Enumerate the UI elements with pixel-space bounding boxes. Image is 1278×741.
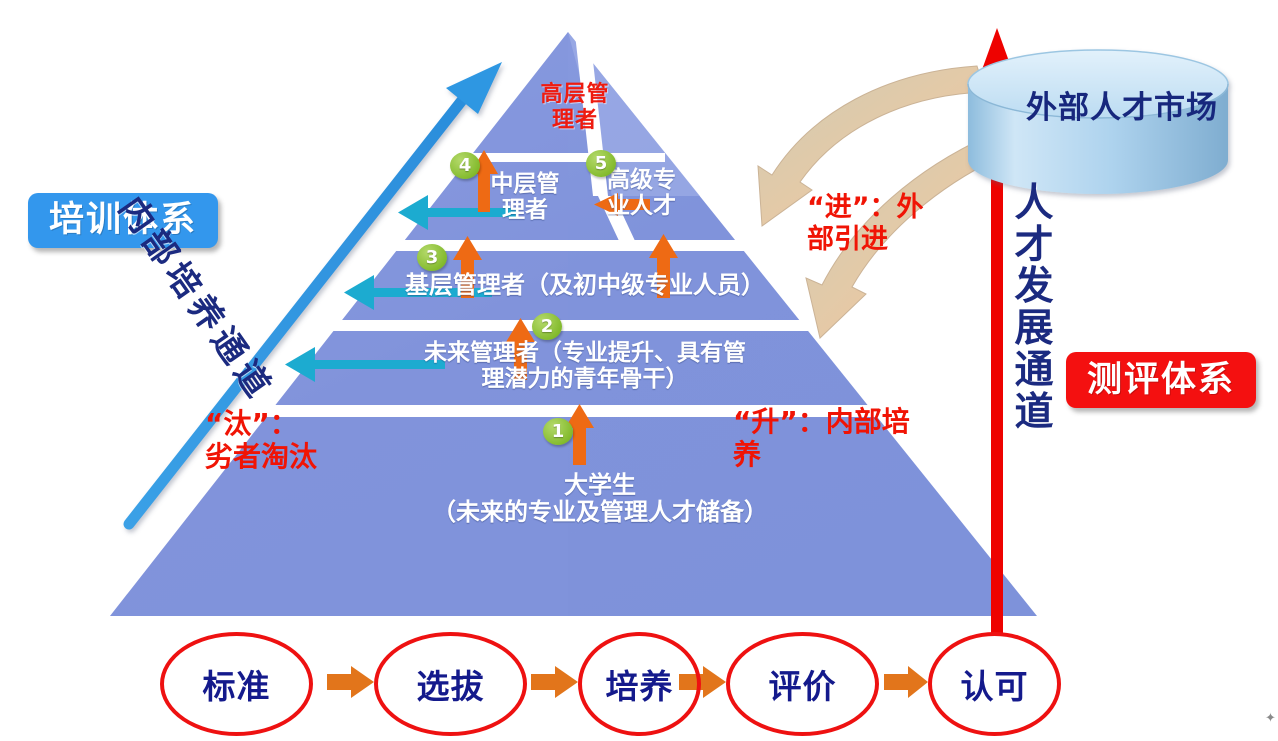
development-channel-char: 道 — [1012, 392, 1056, 434]
chain-step-standard[interactable]: 标准 — [160, 632, 313, 736]
external-market-label: 外部人才市场 — [997, 82, 1247, 127]
corner-mark: ✦ — [1265, 714, 1274, 723]
pyramid-level-top-label: 高层管 理者 — [515, 82, 635, 134]
diagram-canvas: 培训体系 测评体系 高层管 理者 中层管 理者 高级专 业人才 基层管理者（及初… — [0, 0, 1278, 741]
pyramid-level-middle-label: 中层管 理者 — [470, 172, 580, 224]
step-number-1: 1 — [543, 418, 573, 445]
development-channel-char: 人 — [1012, 183, 1056, 225]
development-channel-label: 人才发展通道 — [1012, 183, 1056, 433]
step-number-5: 5 — [586, 150, 616, 177]
chain-step-evaluation[interactable]: 评价 — [726, 632, 879, 736]
pyramid-level-senior-professional-label: 高级专 业人才 — [607, 168, 717, 220]
development-channel-char: 通 — [1012, 350, 1056, 392]
chain-step-selection[interactable]: 选拔 — [374, 632, 527, 736]
annotation-recruit: “进”：外 部引进 — [807, 192, 972, 256]
development-channel-char: 展 — [1012, 308, 1056, 350]
development-channel-char: 才 — [1012, 225, 1056, 267]
development-channel-char: 发 — [1012, 266, 1056, 308]
process-chain: 标准 选拔 培养 评价 认可 — [150, 630, 1070, 734]
step-number-3: 3 — [417, 244, 447, 271]
step-number-2: 2 — [532, 313, 562, 340]
step-number-4: 4 — [450, 152, 480, 179]
chain-step-cultivation[interactable]: 培养 — [578, 632, 701, 736]
chain-step-recognition[interactable]: 认可 — [928, 632, 1061, 736]
annotation-eliminate: “汰”： 劣者淘汰 — [205, 407, 405, 473]
assessment-system-badge[interactable]: 测评体系 — [1066, 352, 1256, 408]
pyramid-level-future-manager-label: 未来管理者（专业提升、具有管 理潜力的青年骨干） — [375, 341, 795, 393]
annotation-promote: “升”：内部培 养 — [733, 405, 948, 471]
pyramid-level-student-label: 大学生 （未来的专业及管理人才储备） — [380, 472, 820, 526]
pyramid-level-base-manager-label: 基层管理者（及初中级专业人员） — [360, 272, 810, 299]
